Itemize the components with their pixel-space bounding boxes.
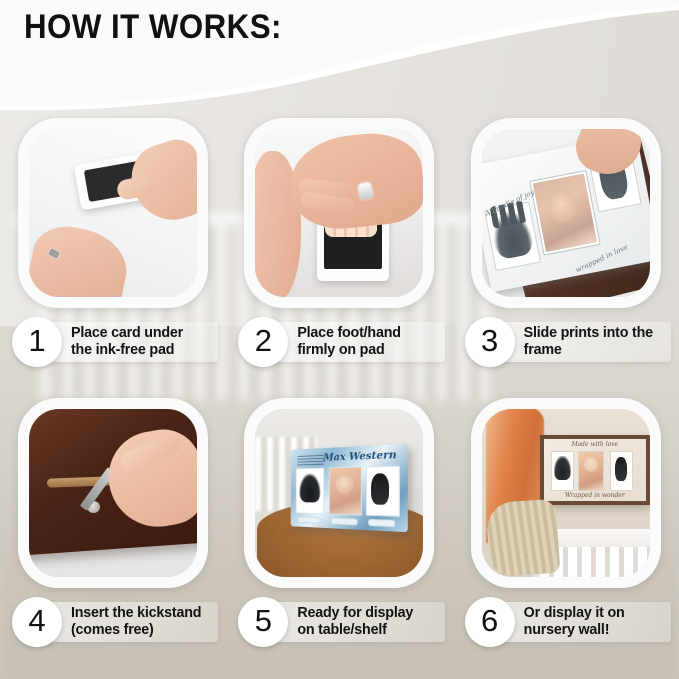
step-6-caption: 6 Or display it on nursery wall!: [465, 597, 671, 647]
step-2-caption: 2 Place foot/hand firmly on pad: [238, 317, 444, 367]
step-4: 4 Insert the kickstand (comes free): [0, 392, 226, 672]
handprint: [554, 456, 571, 480]
scene-ink-free-pad: [29, 129, 197, 297]
slot-label-3: [368, 519, 396, 527]
step-6: Made with love Wrapped in wonder: [453, 392, 679, 672]
footprint: [615, 457, 627, 481]
baby-photo: [579, 452, 603, 490]
caption-line-2: firmly on pad: [297, 342, 400, 359]
handprint: [300, 473, 321, 502]
frame-script-bottom: Wrapped in wonder: [544, 492, 646, 499]
caption-line-2: frame: [524, 342, 653, 359]
baby-photo: [330, 468, 361, 515]
scene-frame-on-wall: Made with love Wrapped in wonder: [482, 409, 650, 577]
caption-line-1: Ready for display: [297, 605, 413, 622]
step-1: 1 Place card under the ink-free pad: [0, 112, 226, 392]
step-4-image-tile: [18, 398, 208, 588]
caption-line-2: on table/shelf: [297, 622, 413, 639]
frame-logo: [298, 454, 325, 466]
step-number-badge: 3: [465, 317, 515, 367]
scene-sliding-prints: A bundle of joy wrapped in love: [482, 129, 650, 297]
frame-header: Max Western: [295, 447, 404, 466]
frame-name-text: Max Western: [324, 450, 397, 464]
blue-keepsake-frame: Max Western: [291, 444, 408, 532]
step-5-image-tile: Max Western: [244, 398, 434, 588]
caption-line-1: Place foot/hand: [297, 325, 400, 342]
scene-kickstand-install: [29, 409, 197, 577]
baby-face: [545, 190, 580, 225]
step-2-photo: [255, 129, 423, 297]
step-number-badge: 1: [12, 317, 62, 367]
page-title: HOW IT WORKS:: [24, 8, 282, 47]
step-4-photo: [29, 409, 197, 577]
step-1-caption: 1 Place card under the ink-free pad: [12, 317, 218, 367]
step-5-caption: 5 Ready for display on table/shelf: [238, 597, 444, 647]
step-caption-text: Place foot/hand firmly on pad: [297, 325, 400, 360]
step-caption-text: Insert the kickstand (comes free): [71, 605, 201, 640]
caption-line-2: nursery wall!: [524, 622, 625, 639]
caption-line-1: Or display it on: [524, 605, 625, 622]
step-2-image-tile: [244, 118, 434, 308]
step-number-badge: 6: [465, 597, 515, 647]
step-3-image-tile: A bundle of joy wrapped in love: [471, 118, 661, 308]
step-1-photo: [29, 129, 197, 297]
caption-line-2: (comes free): [71, 622, 201, 639]
caption-line-2: the ink-free pad: [71, 342, 183, 359]
scene-frame-on-table: Max Western: [255, 409, 423, 577]
caption-line-1: Insert the kickstand: [71, 605, 201, 622]
step-3-photo: A bundle of joy wrapped in love: [482, 129, 650, 297]
step-3: A bundle of joy wrapped in love 3 Slide …: [453, 112, 679, 392]
step-2: 2 Place foot/hand firmly on pad: [226, 112, 452, 392]
step-5: Max Western: [226, 392, 452, 672]
scene-pressing-foot: [255, 129, 423, 297]
step-caption-text: Ready for display on table/shelf: [297, 605, 413, 640]
steps-grid: 1 Place card under the ink-free pad: [0, 112, 679, 672]
step-1-image-tile: [18, 118, 208, 308]
caption-line-1: Slide prints into the: [524, 325, 653, 342]
slot-label-1: [298, 516, 321, 524]
frame-script-top: Made with love: [544, 441, 646, 448]
step-number-badge: 4: [12, 597, 62, 647]
slot-label-2: [331, 517, 358, 525]
knit-blanket: [485, 499, 560, 577]
step-caption-text: Slide prints into the frame: [524, 325, 653, 360]
step-6-image-tile: Made with love Wrapped in wonder: [471, 398, 661, 588]
step-4-caption: 4 Insert the kickstand (comes free): [12, 597, 218, 647]
footprint: [372, 473, 390, 505]
wall-keepsake-frame: Made with love Wrapped in wonder: [540, 435, 650, 505]
baby-face: [584, 457, 598, 472]
step-6-photo: Made with love Wrapped in wonder: [482, 409, 650, 577]
step-number-badge: 2: [238, 317, 288, 367]
caption-line-1: Place card under: [71, 325, 183, 342]
how-it-works-infographic: HOW IT WORKS:: [0, 0, 679, 679]
step-5-photo: Max Western: [255, 409, 423, 577]
step-caption-text: Or display it on nursery wall!: [524, 605, 625, 640]
step-number-badge: 5: [238, 597, 288, 647]
step-caption-text: Place card under the ink-free pad: [71, 325, 183, 360]
step-3-caption: 3 Slide prints into the frame: [465, 317, 671, 367]
baby-face: [336, 475, 354, 494]
